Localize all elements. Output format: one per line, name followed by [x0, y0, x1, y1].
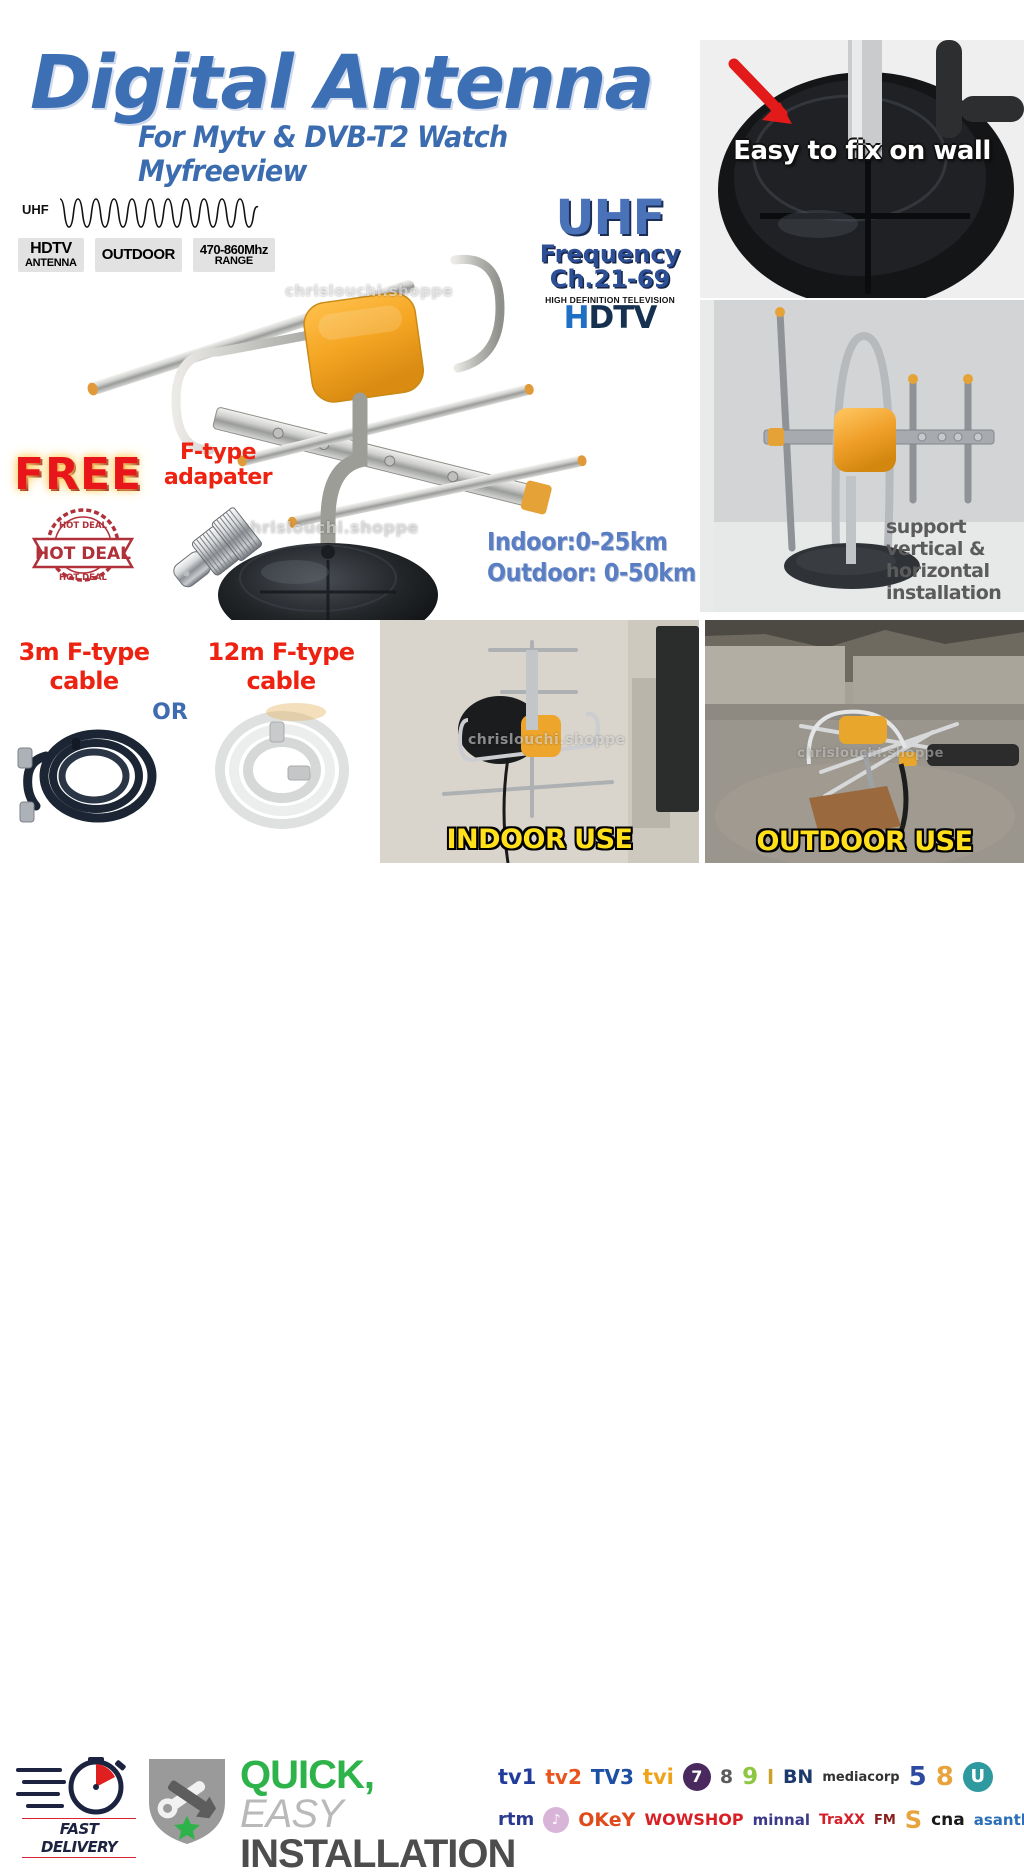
- f-type-adapter-label: F-type adapater: [148, 440, 288, 491]
- logo-channelu-label: U: [970, 1768, 985, 1786]
- qe-line-1: QUICK, EASY: [240, 1756, 480, 1834]
- headline-block: Digital Antenna For Mytv & DVB-T2 Watch …: [30, 48, 690, 188]
- logo-rtm-label: rtm: [498, 1811, 534, 1829]
- logo-asyik: ♪: [543, 1807, 569, 1833]
- logo-tv9-label: 9: [742, 1766, 758, 1789]
- page-subtitle: For Mytv & DVB-T2 Watch Myfreeview: [138, 120, 651, 188]
- logo-8tv: 8: [720, 1768, 733, 1787]
- tools-shield-icon: [144, 1754, 230, 1846]
- coverage-range-text: Indoor:0-25km Outdoor: 0-50km: [487, 527, 696, 588]
- panel-stand-photo: support vertical & horizontal installati…: [700, 300, 1024, 612]
- panel-outdoor-photo: chrislouchi.shoppe OUTDOOR USE: [705, 620, 1024, 863]
- wall-mount-base-photo: [700, 40, 1024, 298]
- logo-minnal: minnal: [753, 1813, 810, 1828]
- panel-wall-mount-photo: Easy to fix on wall: [700, 40, 1024, 298]
- hot-deal-bottom-text: HOT DEAL: [59, 573, 108, 583]
- logo-channelu: U: [963, 1762, 993, 1792]
- cable-3m-label: 3m F-type cable: [4, 638, 164, 696]
- shield-with-tools-icon: [144, 1754, 230, 1846]
- logo-bernama: BN: [783, 1768, 813, 1787]
- hdtv-logo: HDTV: [520, 305, 700, 333]
- logo-okey-label: OKeY: [578, 1811, 635, 1830]
- product-advertisement-image: Digital Antenna For Mytv & DVB-T2 Watch …: [0, 0, 1024, 1024]
- uhf-channel-range: Ch.21-69: [520, 267, 700, 292]
- logo-fm: FM: [874, 1814, 896, 1827]
- installation-label: INSTALLATION: [240, 1834, 480, 1874]
- cable-12m-label: 12m F-type cable: [196, 638, 366, 696]
- uhf-frequency-label: Frequency: [520, 242, 700, 267]
- coax-adapter-icon: [150, 500, 280, 600]
- fast-delivery-badge: FAST DELIVERY: [16, 1756, 136, 1842]
- uhf-frequency-block: UHF Frequency Ch.21-69 HIGH DEFINITION T…: [520, 196, 700, 333]
- logo-tv2-label: tv2: [545, 1767, 582, 1787]
- logo-tvi: tvi: [643, 1767, 674, 1788]
- hdtv-logo-h: H: [564, 300, 589, 336]
- panel-indoor-caption: INDOOR USE: [380, 824, 699, 855]
- logo-cna: cna: [931, 1812, 965, 1829]
- f-type-adapter-photo: [150, 500, 280, 600]
- panel-outdoor-caption: OUTDOOR USE: [705, 826, 1024, 857]
- range-outdoor: Outdoor: 0-50km: [487, 558, 696, 589]
- logo-tv3: TV3: [591, 1767, 634, 1787]
- logo-suria: S: [905, 1808, 922, 1832]
- free-label: FREE: [14, 449, 142, 500]
- logo-suria-label: S: [905, 1808, 922, 1832]
- hdtv-logo-dtv: DTV: [589, 300, 657, 336]
- uhf-wave-label: UHF: [22, 202, 49, 217]
- hot-deal-center-text: HOT DEAL: [35, 544, 131, 564]
- white-cable-coil-icon: [196, 696, 371, 846]
- hot-deal-stamp: HOT DEAL HOT DEAL HOT DEAL: [28, 505, 138, 585]
- logo-channel5-label: 5: [909, 1764, 927, 1790]
- quick-label: QUICK,: [240, 1753, 374, 1797]
- stopwatch-speed-icon: [16, 1756, 136, 1816]
- logo-wowshop-label: WOWSHOP: [644, 1812, 743, 1828]
- logo-mediacorp: mediacorp: [822, 1771, 899, 1784]
- range-indoor: Indoor:0-25km: [487, 527, 696, 558]
- cable-12m-photo: [196, 696, 371, 846]
- logo-tv1: tv1: [498, 1767, 536, 1788]
- logo-tv1-label: tv1: [498, 1767, 536, 1788]
- logo-tv9: 9: [742, 1766, 758, 1789]
- black-cable-coil-icon: [10, 710, 170, 840]
- panel-indoor-photo: chrislouchi.shoppe INDOOR USE: [380, 620, 699, 863]
- hot-deal-stamp-icon: HOT DEAL HOT DEAL HOT DEAL: [28, 505, 138, 585]
- logo-ntv7-label: 7: [691, 1769, 702, 1785]
- logo-tv2: tv2: [545, 1767, 582, 1787]
- logo-ntv7: 7: [683, 1763, 711, 1791]
- logo-rtm: rtm: [498, 1811, 534, 1829]
- channel-logo-row-1: tv1tv2TV3tvi789اBNmediacorp58U: [498, 1756, 993, 1798]
- logo-asyik-label: ♪: [552, 1813, 561, 1827]
- easy-label: EASY: [240, 1792, 343, 1836]
- bottom-trust-bar: FAST DELIVERY QUICK, EASY: [0, 872, 1024, 1024]
- logo-cna-label: cna: [931, 1812, 965, 1829]
- logo-tv3-label: TV3: [591, 1767, 634, 1787]
- channel-logo-row-2: rtm♪OKeYWOWSHOPminnalTraXXFMScnaasantham: [498, 1800, 1024, 1840]
- logo-channel5: 5: [909, 1764, 927, 1790]
- hot-deal-top-text: HOT DEAL: [59, 521, 108, 531]
- logo-bernama-label: BN: [783, 1768, 813, 1787]
- logo-vasantham-label: asantham: [974, 1813, 1024, 1828]
- logo-channel8-label: 8: [936, 1764, 954, 1790]
- logo-minnal-label: minnal: [753, 1813, 810, 1828]
- uhf-heading: UHF: [520, 196, 700, 242]
- logo-traxx-label: TraXX: [819, 1813, 865, 1827]
- logo-wowshop: WOWSHOP: [644, 1812, 743, 1828]
- logo-channel8: 8: [936, 1764, 954, 1790]
- logo-awani: ا: [767, 1767, 774, 1787]
- panel-wall-caption: Easy to fix on wall: [700, 136, 1024, 166]
- logo-tvi-label: tvi: [643, 1767, 674, 1788]
- logo-fm-label: FM: [874, 1814, 896, 1827]
- logo-traxx: TraXX: [819, 1813, 865, 1827]
- logo-8tv-label: 8: [720, 1768, 733, 1787]
- logo-mediacorp-label: mediacorp: [822, 1771, 899, 1784]
- page-title: Digital Antenna: [30, 48, 690, 118]
- cable-3m-photo: [10, 710, 170, 840]
- logo-okey: OKeY: [578, 1811, 635, 1830]
- logo-awani-label: ا: [767, 1767, 774, 1787]
- quick-easy-installation-text: QUICK, EASY INSTALLATION: [240, 1756, 480, 1874]
- panel-stand-caption: support vertical & horizontal installati…: [886, 516, 1016, 604]
- logo-vasantham: asantham: [974, 1813, 1024, 1828]
- fast-delivery-label: FAST DELIVERY: [22, 1818, 136, 1858]
